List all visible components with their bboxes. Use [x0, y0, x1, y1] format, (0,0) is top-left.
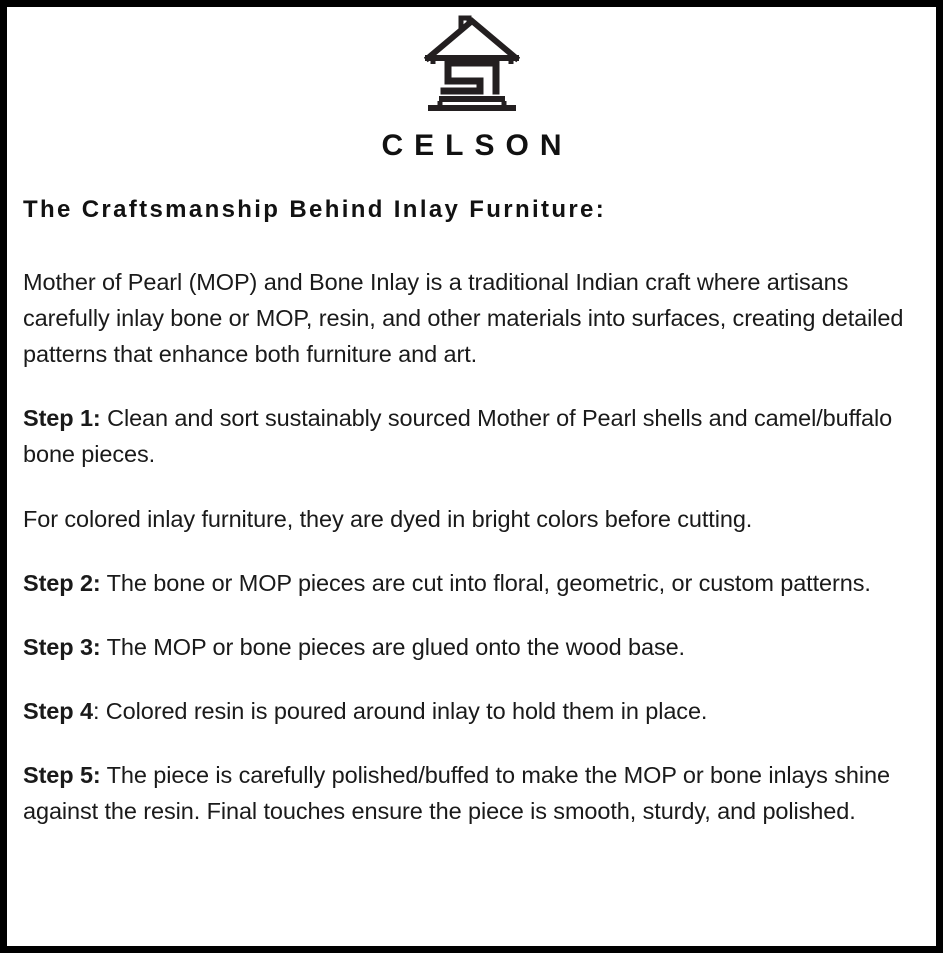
step-2-paragraph: Step 2: The bone or MOP pieces are cut i… — [23, 565, 919, 601]
step-3-label: Step 3: — [23, 634, 101, 660]
colored-inlay-note: For colored inlay furniture, they are dy… — [23, 501, 919, 537]
house-with-stylized-s-icon — [424, 13, 520, 114]
step-1-paragraph: Step 1: Clean and sort sustainably sourc… — [23, 400, 919, 472]
article-body: Mother of Pearl (MOP) and Bone Inlay is … — [23, 264, 927, 830]
step-1-text: Clean and sort sustainably sourced Mothe… — [23, 405, 892, 467]
step-4-label: Step 4 — [23, 698, 93, 724]
step-3-paragraph: Step 3: The MOP or bone pieces are glued… — [23, 629, 919, 665]
step-3-text: The MOP or bone pieces are glued onto th… — [101, 634, 685, 660]
brand-block: CELSON — [16, 7, 927, 161]
step-4-text: : Colored resin is poured around inlay t… — [93, 698, 707, 724]
step-5-paragraph: Step 5: The piece is carefully polished/… — [23, 757, 919, 829]
poster-card: CELSON The Craftsmanship Behind Inlay Fu… — [0, 0, 943, 953]
step-5-label: Step 5: — [23, 762, 101, 788]
step-2-label: Step 2: — [23, 570, 101, 596]
step-2-text: The bone or MOP pieces are cut into flor… — [101, 570, 871, 596]
poster-inner: CELSON The Craftsmanship Behind Inlay Fu… — [7, 7, 936, 946]
page-title: The Craftsmanship Behind Inlay Furniture… — [23, 196, 927, 224]
step-1-label: Step 1: — [23, 405, 101, 431]
step-5-text: The piece is carefully polished/buffed t… — [23, 762, 890, 824]
brand-name: CELSON — [16, 131, 927, 161]
intro-paragraph: Mother of Pearl (MOP) and Bone Inlay is … — [23, 264, 919, 373]
step-4-paragraph: Step 4: Colored resin is poured around i… — [23, 693, 919, 729]
